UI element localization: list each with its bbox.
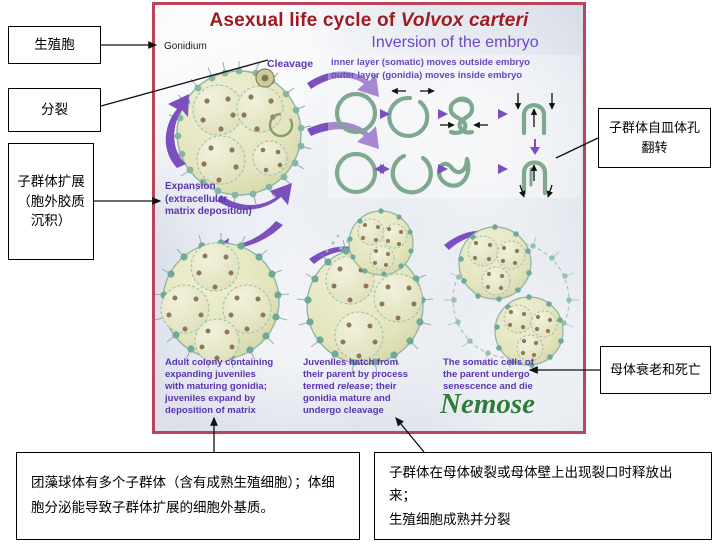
signature-nemose: Nemose (440, 388, 535, 421)
label-expansion-line-1: Expansion (165, 181, 252, 194)
annotation-inversion-text: 子群体自皿体孔翻转 (599, 116, 710, 160)
caption-adult-colony: Adult colony containing expanding juveni… (165, 357, 273, 416)
annotation-expansion-text: 子群体扩展（胞外胶质沉积） (9, 170, 93, 233)
annotation-inversion: 子群体自皿体孔翻转 (598, 108, 711, 168)
label-expansion: Expansion (extracellular matrix depositi… (165, 181, 252, 219)
label-cleavage: Cleavage (267, 58, 313, 71)
caption2-italic: release (337, 381, 370, 392)
senescing-colony (444, 224, 579, 368)
annotation-cleavage-text: 分裂 (37, 98, 72, 123)
label-expansion-line-2: (extracellular (165, 194, 252, 207)
inversion-line-1: inner layer (somatic) moves outside embr… (331, 57, 579, 70)
annotation-bottom-right: 子群体在母体破裂或母体壁上出现裂口时释放出来； 生殖细胞成熟并分裂 (374, 452, 712, 540)
poster-figure: Asexual life cycle of Volvox carteri (152, 2, 586, 434)
annotation-senescence-text: 母体衰老和死亡 (606, 358, 705, 382)
annotation-senescence: 母体衰老和死亡 (600, 346, 711, 394)
annotation-bottom-right-text: 子群体在母体破裂或母体壁上出现裂口时释放出来； 生殖细胞成熟并分裂 (375, 457, 711, 536)
label-expansion-line-3: matrix deposition) (165, 206, 252, 219)
annotation-bottom-left: 团藻球体有多个子群体（含有成熟生殖细胞）；体细胞分泌能导致子群体扩展的细胞外基质… (16, 452, 360, 540)
adult-colony (155, 233, 289, 368)
annotation-gonidium-text: 生殖胞 (30, 33, 79, 58)
inversion-description: inner layer (somatic) moves outside embr… (331, 57, 579, 83)
caption-juvenile-hatch: Juveniles hatch from their parent by pro… (303, 357, 408, 416)
hatching-colony (297, 208, 433, 373)
annotation-expansion: 子群体扩展（胞外胶质沉积） (8, 143, 94, 260)
label-gonidium: Gonidium (164, 41, 207, 54)
annotation-cleavage: 分裂 (8, 88, 101, 132)
annotation-gonidium: 生殖胞 (8, 26, 101, 64)
inversion-heading: Inversion of the embryo (330, 34, 580, 52)
inversion-sequence-diagram (328, 81, 581, 198)
annotation-bottom-left-text: 团藻球体有多个子群体（含有成熟生殖细胞）；体细胞分泌能导致子群体扩展的细胞外基质… (17, 467, 359, 525)
